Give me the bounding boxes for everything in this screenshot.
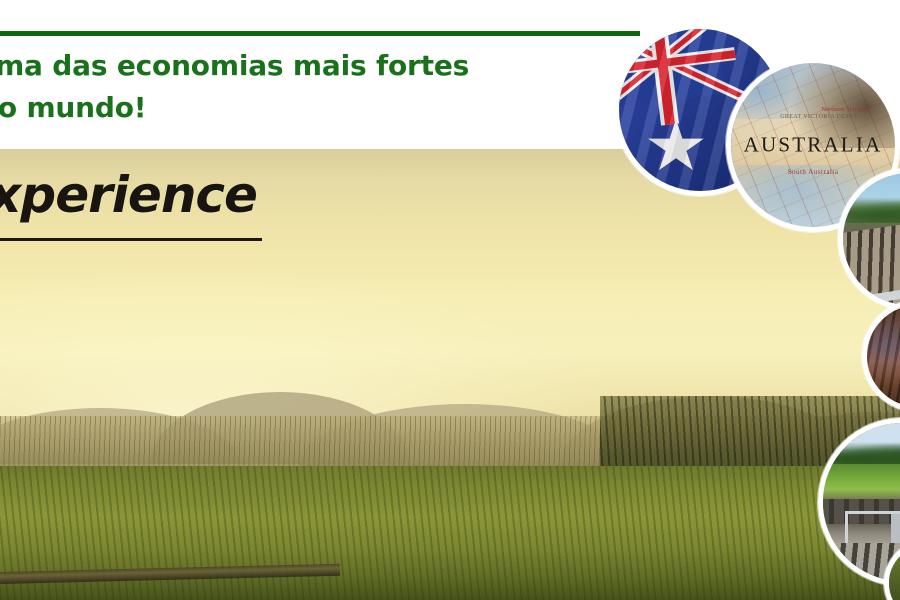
green-field-scene [889,545,900,600]
headline-line-2: s do mundo! [0,87,592,129]
circle-railway-bridge [838,168,900,310]
tree-line [823,442,900,464]
map-state-label: South Australia [788,168,839,176]
map-region-label: GREAT VICTORIA DESERT [780,114,861,120]
headline-text: – uma das economias mais fortes s do mun… [0,45,592,129]
title-underline [0,238,262,241]
green-rule-divider [0,31,640,36]
circle-harvest-machinery [862,300,900,412]
machinery-scene [867,305,900,407]
tree-line [843,199,900,223]
circle-cane-field-mill [818,418,900,586]
machinery-image [867,305,900,407]
slide-canvas: – uma das economias mais fortes s do mun… [0,0,900,600]
map-region-label: Northern Territory [821,106,869,113]
railway-image [843,173,900,305]
green-field-image [889,545,900,600]
page-title-text: Experience [0,170,257,220]
map-country-label: AUSTRALIA [731,133,895,158]
page-title: Experience [0,170,257,220]
headline-line-1: – uma das economias mais fortes [0,49,469,82]
